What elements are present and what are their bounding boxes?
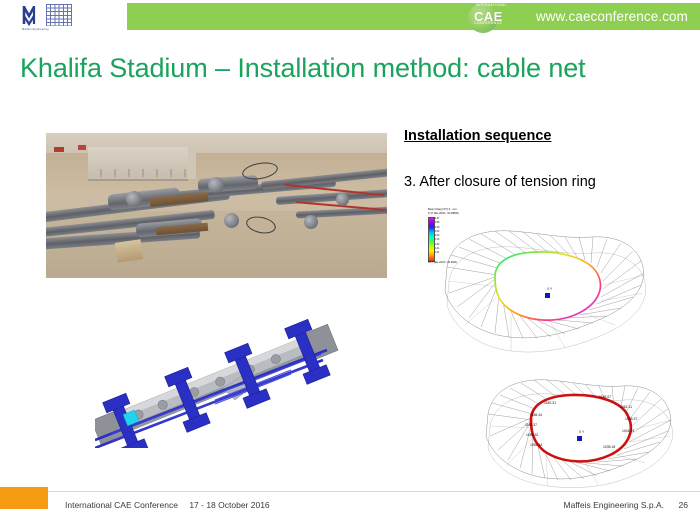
page-title: Khalifa Stadium – Installation method: c… [20,53,586,84]
footer-page-number: 26 [679,500,688,510]
conference-website-url[interactable]: www.caeconference.com [536,9,688,24]
photo-concrete-block [88,147,188,181]
cad-svg [95,308,365,448]
footer-accent-block [0,487,48,509]
ring-force-label: 1188.07 [599,395,611,399]
footer-conference-dates: 17 - 18 October 2016 [189,500,269,510]
logo-caption: Maffeis Engineering [22,28,74,31]
ring-force-label: 1180.31 [544,401,556,405]
ring-force-label: 1035.18 [603,445,615,449]
ring-force-label: 1052.44 [530,443,542,447]
photo-red-marker-a [54,147,64,152]
ring-force-label: 1041.24 [622,429,634,433]
footer-company-name: Maffeis Engineering S.p.A. [564,500,665,510]
ring-force-label: 1183.37 [525,423,537,427]
photo-pin [208,177,224,193]
photo-pin [336,193,349,206]
axis-origin-marker [545,293,550,298]
cable-socket-site-photo [46,133,387,278]
footer-conference-name: International CAE Conference [65,500,178,510]
fea-legend-tick: 0.61 [435,251,475,255]
fea-legend-ticks: 5.47 4.86 4.25 3.64 3.04 2.43 1.82 1.21 … [435,217,475,260]
slide: Maffeis Engineering INTERNATIONAL CAE CO… [0,0,700,525]
photo-pin [224,213,239,228]
photo-timber-block [115,239,144,262]
maffeis-engineering-logo: Maffeis Engineering [22,3,74,33]
photo-pin [304,215,318,229]
tension-ring-stress-view: Beam Diag [1XY] Z - mm 5.47 (Ele 2049 / … [425,205,693,355]
footer-conference-info: International CAE Conference 17 - 18 Oct… [65,500,270,510]
photo-pin [126,191,142,207]
cae-conference-logo: INTERNATIONAL CAE CONFERENCE [466,1,514,34]
fea-legend-max: 5.47 (Ele 2049 / nd 08809) [428,212,459,215]
photo-concrete-block-edge [188,149,196,179]
cae-logo-sub-text: CONFERENCE [474,21,502,25]
ring-force-label: 1062.11 [620,405,632,409]
axis-origin-marker [577,436,582,441]
logo-grid-icon [46,4,72,26]
ring-force-label: 1186.44 [530,413,542,417]
tension-ring-force-view: 1180.31 1186.44 1183.37 1056.32 1052.44 … [470,358,693,490]
fea-legend-min: 8.17 (Ele 2224 / nd 9921) [428,261,457,264]
fea-legend-title: Beam Diag [1XY] Z - mm [428,208,457,211]
photo-red-marker-b [78,145,86,150]
cable-clamp-cad-render [95,308,365,448]
ring-force-label: 1056.32 [526,433,538,437]
logo-m-icon [22,3,46,27]
installation-sequence-heading: Installation sequence [404,128,551,144]
fea-legend: Beam Diag [1XY] Z - mm 5.47 (Ele 2049 / … [428,208,490,264]
svg-text:X Y: X Y [579,430,585,434]
stadium-roof-mesh-bottom: 1180.31 1186.44 1183.37 1056.32 1052.44 … [470,358,693,490]
svg-text:X Y: X Y [547,287,553,291]
ring-force-label: 1048.37 [625,417,637,421]
installation-sequence-step: 3. After closure of tension ring [404,174,596,190]
footer-divider [0,491,700,492]
cae-logo-top-text: INTERNATIONAL [476,3,507,7]
